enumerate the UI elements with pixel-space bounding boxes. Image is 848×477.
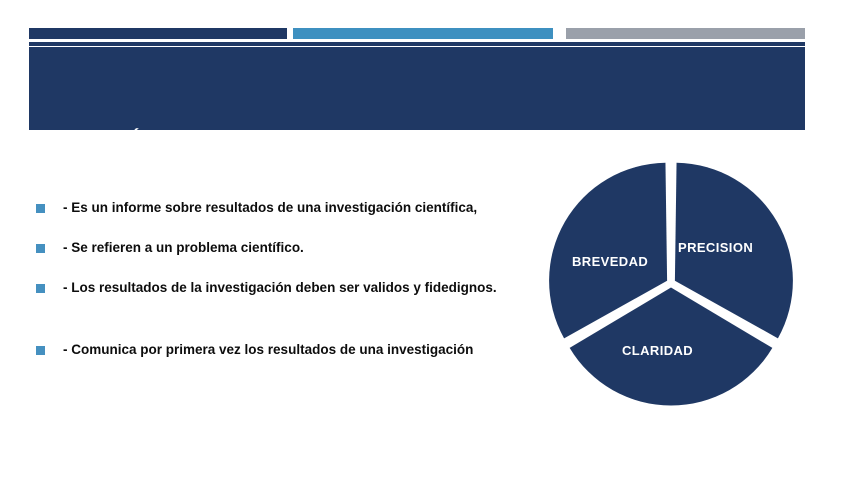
list-item: - Comunica por primera vez los resultado… xyxy=(36,342,556,360)
page-title: ¿QUÉ ES UN ARTICULO CIENTIFICO? xyxy=(72,128,537,157)
pie-chart: PRECISION BREVEDAD CLARIDAD xyxy=(545,160,800,408)
title-band: ¿QUÉ ES UN ARTICULO CIENTIFICO? xyxy=(29,47,805,130)
rule-segment-blue xyxy=(293,28,553,39)
list-item-label: - Los resultados de la investigación deb… xyxy=(63,280,556,296)
list-item-label: - Se refieren a un problema científico. xyxy=(63,240,556,256)
list-item-label: - Comunica por primera vez los resultado… xyxy=(63,342,556,358)
pie-label-claridad: CLARIDAD xyxy=(622,343,693,358)
list-item: - Los resultados de la investigación deb… xyxy=(36,280,556,298)
pie-label-precision: PRECISION xyxy=(678,240,753,255)
list-item: - Es un informe sobre resultados de una … xyxy=(36,200,556,218)
list-item-label: - Es un informe sobre resultados de una … xyxy=(63,200,556,216)
list-item: - Se refieren a un problema científico. xyxy=(36,240,556,258)
rule-underline xyxy=(29,42,805,46)
pie-label-brevedad: BREVEDAD xyxy=(572,254,648,269)
square-bullet-icon xyxy=(36,204,45,213)
bullet-list: - Es un informe sobre resultados de una … xyxy=(36,200,556,382)
slide-canvas: ¿QUÉ ES UN ARTICULO CIENTIFICO? - Es un … xyxy=(0,0,848,477)
square-bullet-icon xyxy=(36,284,45,293)
pie-slice-group xyxy=(549,163,793,406)
square-bullet-icon xyxy=(36,346,45,355)
pie-chart-svg xyxy=(545,160,800,408)
rule-segment-gray xyxy=(566,28,805,39)
square-bullet-icon xyxy=(36,244,45,253)
rule-segment-navy xyxy=(29,28,287,39)
